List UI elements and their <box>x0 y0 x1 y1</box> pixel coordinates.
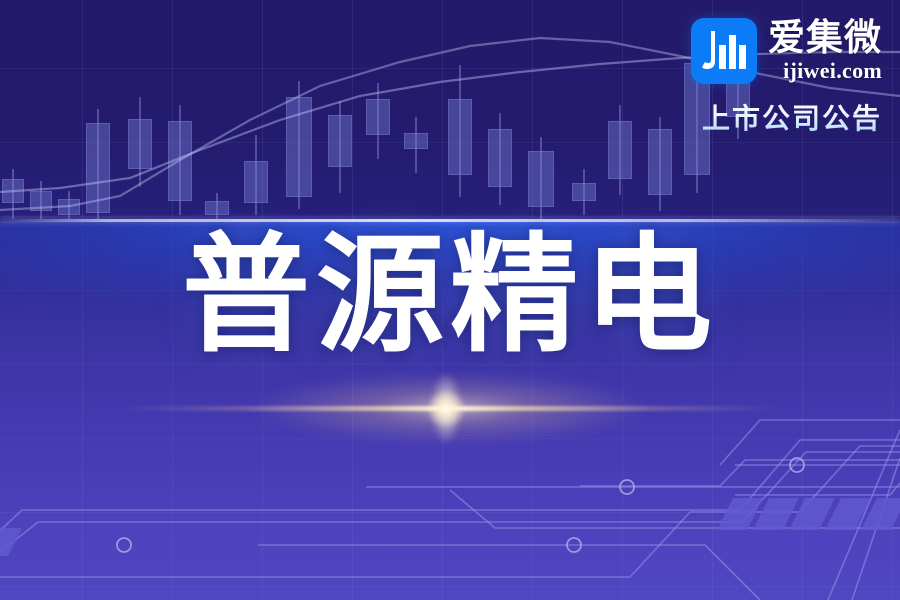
banner-root: 爱集微 ijiwei.com 上市公司公告 普源精电 <box>0 0 900 600</box>
logo-bars-glyph <box>702 31 746 71</box>
ijiwei-bars-logo-icon <box>691 18 757 84</box>
brand-wordmark: 爱集微 ijiwei.com <box>768 20 882 82</box>
slant-bar-cluster-left <box>0 528 22 556</box>
trace-step-b <box>720 420 900 465</box>
slant-bar-cluster-right <box>717 498 900 530</box>
trace-step-a <box>580 460 900 486</box>
brand-domain: ijiwei.com <box>768 60 882 82</box>
brand-logo-row: 爱集微 ijiwei.com <box>670 18 882 84</box>
circuit-node-far-left <box>117 538 131 552</box>
brand-name-cn: 爱集微 <box>768 20 882 57</box>
brand-logo-block: 爱集微 ijiwei.com 上市公司公告 <box>670 18 882 137</box>
trace-left-lower <box>258 545 760 600</box>
slant-bar <box>0 528 22 556</box>
brand-subtitle: 上市公司公告 <box>670 97 882 137</box>
company-headline: 普源精电 <box>0 232 900 360</box>
flare-core <box>426 390 466 428</box>
